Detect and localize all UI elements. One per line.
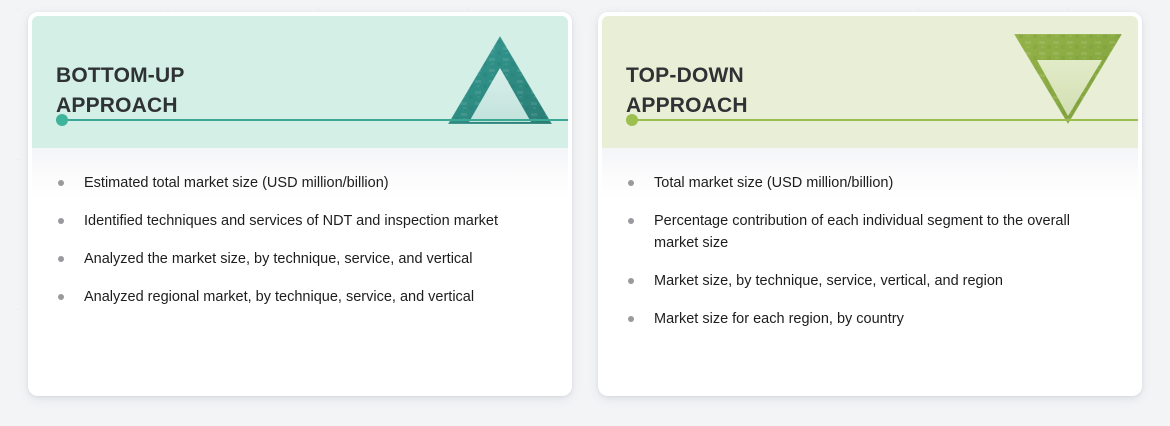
card-top-down: TOP-DOWN APPROACH Total market size (USD… xyxy=(598,12,1142,396)
card-bottom-up: BOTTOM-UP APPROACH Estimated total marke… xyxy=(28,12,572,396)
list-item: Market size, by technique, service, vert… xyxy=(624,270,1116,292)
list-item: Identified techniques and services of ND… xyxy=(54,210,546,232)
list-item: Market size for each region, by country xyxy=(624,308,1116,330)
card-title-top-down: TOP-DOWN APPROACH xyxy=(626,61,748,121)
list-item: Total market size (USD million/billion) xyxy=(624,172,1116,194)
list-item: Estimated total market size (USD million… xyxy=(54,172,546,194)
infographic-stage: BOTTOM-UP APPROACH Estimated total marke… xyxy=(0,0,1170,426)
card-title-bottom-up: BOTTOM-UP APPROACH xyxy=(56,61,185,121)
bullet-list-bottom-up: Estimated total market size (USD million… xyxy=(54,172,546,308)
card-body-bottom-up: Estimated total market size (USD million… xyxy=(32,148,568,392)
triangle-down-icon xyxy=(1010,28,1126,126)
bullet-list-top-down: Total market size (USD million/billion) … xyxy=(624,172,1116,330)
triangle-up-icon xyxy=(446,34,554,126)
list-item: Percentage contribution of each individu… xyxy=(624,210,1116,254)
card-body-top-down: Total market size (USD million/billion) … xyxy=(602,148,1138,392)
list-item: Analyzed regional market, by technique, … xyxy=(54,286,546,308)
card-header-top-down: TOP-DOWN APPROACH xyxy=(602,16,1138,148)
card-header-bottom-up: BOTTOM-UP APPROACH xyxy=(32,16,568,148)
list-item: Analyzed the market size, by technique, … xyxy=(54,248,546,270)
